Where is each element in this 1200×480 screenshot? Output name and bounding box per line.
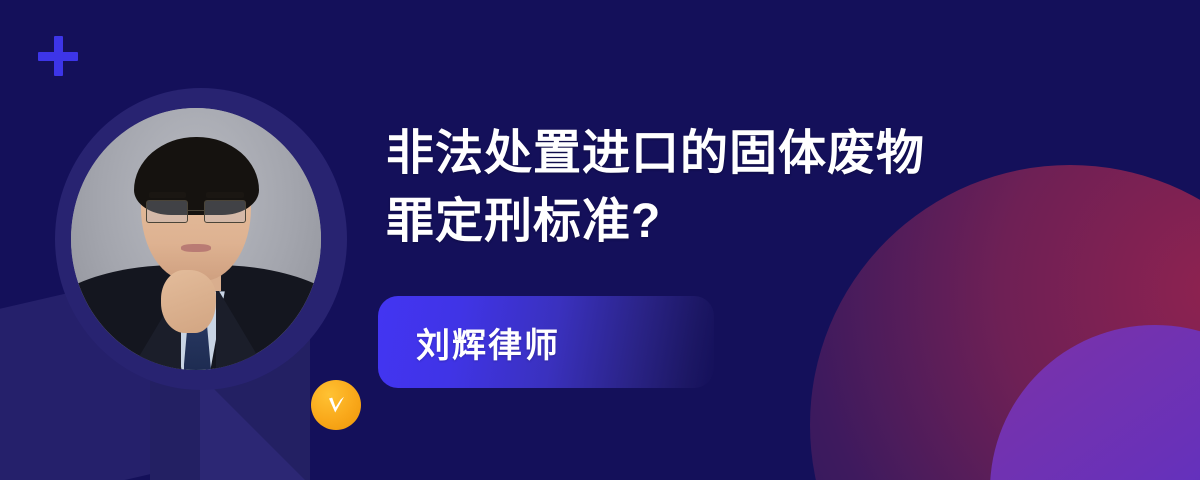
- glasses-lens-right: [204, 200, 246, 224]
- portrait-mouth: [181, 244, 211, 252]
- glasses-lens-left: [146, 200, 188, 224]
- plus-icon: [38, 36, 78, 76]
- portrait-eyebrow-right: [206, 192, 244, 199]
- portrait-eyebrow-left: [149, 192, 187, 199]
- content-block: 非法处置进口的固体废物 罪定刑标准?: [386, 120, 1086, 256]
- plus-icon-horizontal-bar: [38, 52, 78, 61]
- portrait-glasses: [146, 200, 246, 224]
- avatar-photo: [71, 108, 321, 370]
- page-title: 非法处置进口的固体废物 罪定刑标准?: [386, 120, 1086, 256]
- verified-v-icon: [311, 380, 361, 430]
- corner-triangle-right: [200, 375, 310, 480]
- promo-banner: 非法处置进口的固体废物 罪定刑标准? 刘辉律师: [0, 0, 1200, 480]
- glasses-bridge: [188, 210, 204, 212]
- avatar[interactable]: [55, 88, 347, 390]
- lawyer-name-label: 刘辉律师: [416, 318, 560, 367]
- portrait-hand: [161, 270, 216, 333]
- plus-icon-vertical-bar: [54, 36, 63, 76]
- lawyer-name-button[interactable]: 刘辉律师: [378, 296, 714, 388]
- decorative-circle-purple: [990, 325, 1200, 480]
